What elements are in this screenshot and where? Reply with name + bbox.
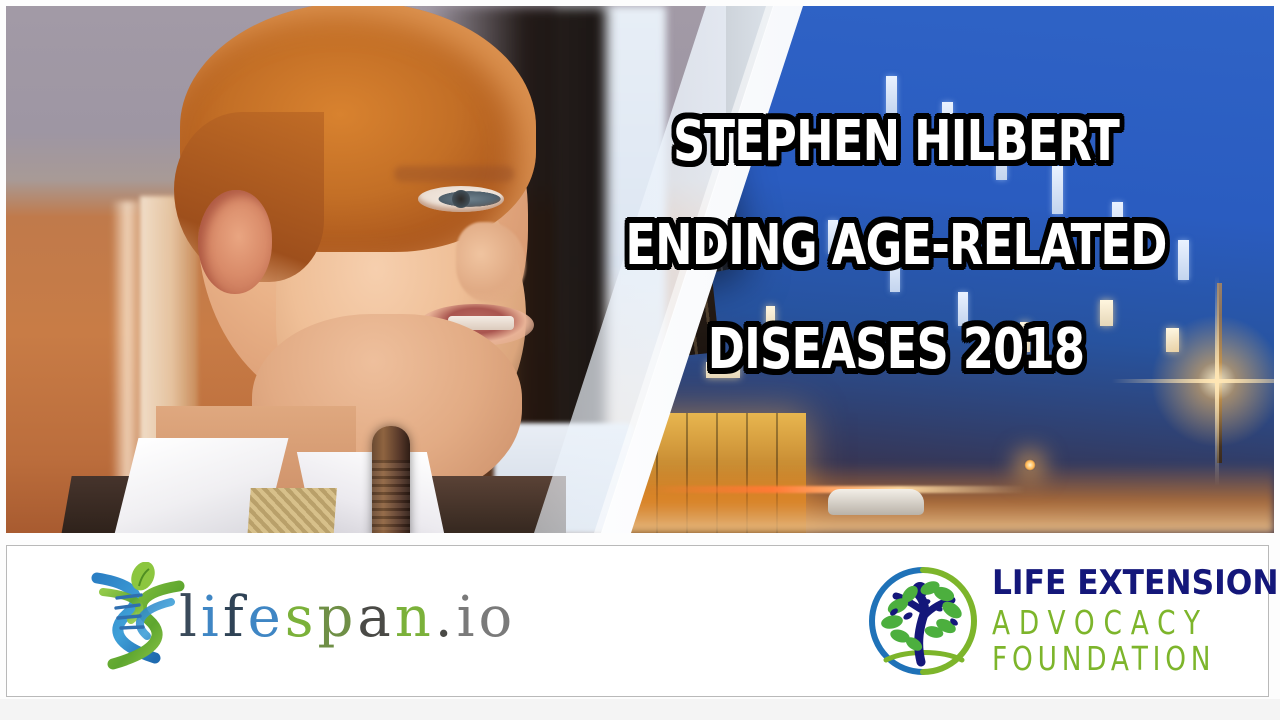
window-lit [1100,300,1113,326]
thumbnail-canvas: STEPHEN HILBERT ENDING AGE-RELATED DISEA… [0,0,1280,720]
window-lit [828,220,838,254]
lifespan-letter: e [248,590,285,646]
ear [198,190,272,294]
lifespan-io-logo: lifespan.io [69,560,489,680]
lifespan-letter: s [285,590,318,646]
lifespan-letter: i [201,590,223,646]
necktie [247,488,337,533]
portrait-background-left [6,6,66,533]
leaf-line-1: LIFE EXTENSION [992,566,1279,600]
lifespan-wordmark: lifespan.io [179,590,516,646]
window-lit [766,306,775,332]
lifespan-letter: f [223,590,248,646]
thumbnail-image: STEPHEN HILBERT ENDING AGE-RELATED DISEA… [6,6,1274,533]
leaf-logo: LIFE EXTENSION ADVOCACY FOUNDATION [864,560,1224,682]
window-lit [958,292,968,326]
eyebrow [394,166,514,182]
street-lamp [1024,459,1036,471]
lifespan-letter: a [357,590,394,646]
window-lit [942,102,953,146]
lifespan-letter: n [395,590,435,646]
dna-helix-icon [83,562,193,678]
lifespan-letter: . [435,590,457,646]
window-lit [996,134,1007,180]
lifespan-letter: o [479,590,517,646]
logo-footer-bar: lifespan.io [6,545,1269,697]
window-lit [1052,166,1063,214]
window-lit [890,256,900,292]
window-lit [886,76,897,116]
lens-flare [1142,306,1274,456]
lifespan-letter: i [457,590,479,646]
leaf-line-2: ADVOCACY [992,606,1241,640]
leaf-wordmark: LIFE EXTENSION ADVOCACY FOUNDATION [992,566,1280,675]
eye [418,186,504,212]
leaf-line-3: FOUNDATION [992,642,1241,676]
lifespan-letter: p [317,590,357,646]
window-lit [1178,240,1189,280]
window-lit [1112,202,1123,246]
window-lit [1020,322,1030,352]
lifespan-letter: l [179,590,201,646]
window-lit [706,362,740,378]
parked-car [828,489,924,515]
tree-person-circle-icon [864,564,982,679]
microphone [372,426,410,533]
bottom-strip [0,699,1280,720]
